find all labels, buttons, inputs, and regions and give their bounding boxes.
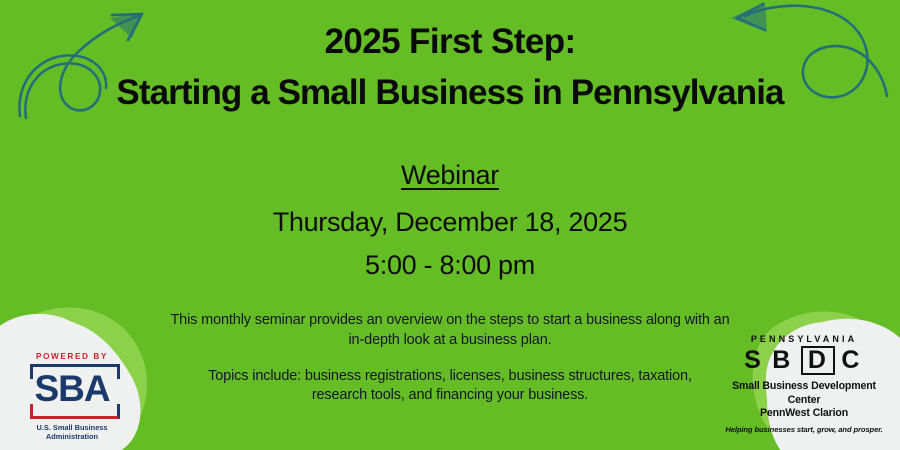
sba-powered-by-label: POWERED BY	[14, 352, 130, 361]
sba-caption: U.S. Small Business Administration	[14, 423, 130, 442]
description-paragraph-1: This monthly seminar provides an overvie…	[170, 311, 730, 350]
sbdc-tagline: Helping businesses start, grow, and pros…	[720, 425, 888, 434]
sba-bracket-bottom-icon	[30, 404, 120, 419]
sbdc-letter-c: C	[838, 348, 867, 373]
page-title-line-1: 2025 First Step:	[324, 22, 575, 61]
sbdc-letter-b: B	[769, 348, 798, 373]
event-flyer: 2025 First Step: Starting a Small Busine…	[0, 0, 900, 450]
sba-logo-mark: SBA	[22, 364, 122, 418]
sba-letters: SBA	[22, 370, 122, 407]
sbdc-name-line-1: Small Business Development Center	[720, 380, 888, 407]
description-paragraph-2: Topics include: business registrations, …	[180, 367, 720, 406]
sbdc-name-line-2: PennWest Clarion	[720, 407, 888, 421]
sbdc-letter-d-boxed: D	[801, 346, 836, 375]
event-format-label: Webinar	[401, 160, 499, 191]
sbdc-letter-s: S	[741, 348, 768, 373]
page-title-line-2: Starting a Small Business in Pennsylvani…	[116, 73, 783, 112]
sbdc-logo: PENNSYLVANIA S B D C Small Business Deve…	[720, 334, 888, 434]
event-time: 5:00 - 8:00 pm	[365, 250, 535, 281]
event-date: Thursday, December 18, 2025	[273, 207, 628, 238]
sba-logo: POWERED BY SBA U.S. Small Business Admin…	[14, 352, 130, 442]
sbdc-state-label: PENNSYLVANIA	[720, 334, 888, 344]
sbdc-acronym: S B D C	[720, 346, 888, 375]
